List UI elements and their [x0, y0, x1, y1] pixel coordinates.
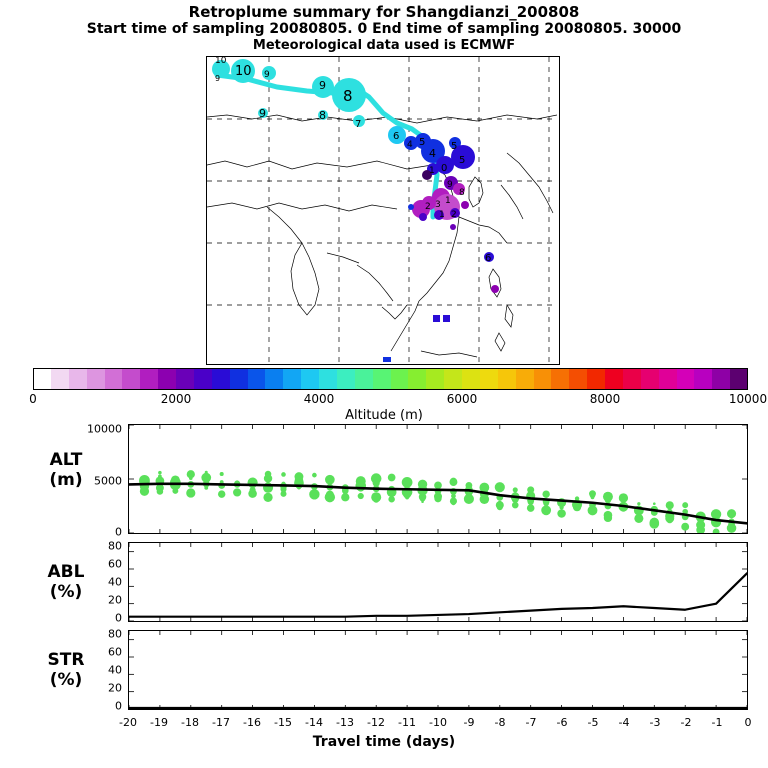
svg-text:9: 9: [259, 107, 266, 120]
colorbar-segment: [426, 368, 444, 390]
svg-text:0: 0: [441, 163, 447, 174]
alt-ytick-column: 10000 5000 0: [82, 424, 126, 534]
x-tick-label: -14: [305, 716, 323, 729]
colorbar-segment: [516, 368, 534, 390]
x-axis-tick-labels: -20-19-18-17-16-15-14-13-12-11-10-9-8-7-…: [0, 716, 768, 732]
x-tick-label: -17: [212, 716, 230, 729]
colorbar-segment: [498, 368, 516, 390]
x-tick-label: -6: [557, 716, 568, 729]
colorbar-segment: [534, 368, 552, 390]
alt-panel: [128, 424, 748, 534]
abl-panel: [128, 542, 748, 622]
colorbar-title: Altitude (m): [0, 408, 768, 423]
str-plot-svg: [129, 631, 747, 709]
colorbar-segment: [587, 368, 605, 390]
colorbar-segment: [230, 368, 248, 390]
colorbar-segment: [391, 368, 409, 390]
colorbar-segment: [462, 368, 480, 390]
svg-text:5: 5: [459, 155, 465, 166]
colorbar-segment: [677, 368, 695, 390]
svg-text:4: 4: [429, 147, 436, 160]
x-tick-label: -8: [495, 716, 506, 729]
svg-text:9: 9: [319, 79, 326, 92]
x-tick-label: 0: [745, 716, 752, 729]
svg-text:1: 1: [429, 166, 435, 176]
colorbar-segment: [730, 368, 748, 390]
map-svg: 10 10 9 9 9 8 9 8 7 6 4 5 4 5 1 0 5 2 3 …: [207, 57, 557, 362]
colorbar-tick: 8000: [590, 392, 621, 406]
svg-text:1: 1: [445, 196, 451, 206]
svg-text:3: 3: [435, 200, 441, 210]
page-title: Retroplume summary for Shangdianzi_20080…: [0, 4, 768, 21]
svg-text:6: 6: [393, 131, 399, 142]
x-tick-label: -15: [274, 716, 292, 729]
x-tick-label: -7: [526, 716, 537, 729]
x-tick-label: -19: [150, 716, 168, 729]
svg-text:9: 9: [447, 180, 453, 190]
x-tick-label: -4: [619, 716, 630, 729]
colorbar-segment: [641, 368, 659, 390]
colorbar-segment: [283, 368, 301, 390]
svg-text:8: 8: [459, 188, 465, 198]
colorbar-segment: [248, 368, 266, 390]
timeseries-panels: ALT(m) 10000 5000 0 ABL(%) 80 60 40 20 0…: [0, 424, 768, 734]
svg-text:5: 5: [419, 137, 425, 148]
colorbar-segment: [158, 368, 176, 390]
svg-text:1: 1: [439, 210, 445, 220]
colorbar-tick-labels: 0200040006000800010000: [0, 392, 768, 406]
abl-ytick-column: 80 60 40 20 0: [82, 542, 126, 622]
colorbar-tick: 10000: [729, 392, 767, 406]
colorbar-tick: 0: [29, 392, 37, 406]
svg-text:8: 8: [319, 109, 326, 122]
alt-plot-svg: [129, 425, 747, 533]
colorbar-segment: [337, 368, 355, 390]
x-tick-label: -2: [681, 716, 692, 729]
x-tick-label: -5: [588, 716, 599, 729]
x-tick-label: -10: [429, 716, 447, 729]
colorbar-segment: [87, 368, 105, 390]
colorbar-segment: [301, 368, 319, 390]
colorbar-segment: [51, 368, 69, 390]
colorbar-segment: [444, 368, 462, 390]
colorbar-segment: [712, 368, 730, 390]
colorbar-segment: [551, 368, 569, 390]
colorbar-segment: [69, 368, 87, 390]
x-tick-label: -1: [712, 716, 723, 729]
colorbar-segment: [408, 368, 426, 390]
colorbar-segment: [33, 368, 51, 390]
x-tick-label: -18: [181, 716, 199, 729]
colorbar-tick: 4000: [304, 392, 335, 406]
svg-text:6: 6: [485, 253, 491, 264]
abl-plot-svg: [129, 543, 747, 621]
str-ytick-column: 80 60 40 20 0: [82, 630, 126, 710]
svg-text:9: 9: [264, 70, 270, 80]
svg-text:2: 2: [451, 210, 457, 220]
svg-text:7: 7: [355, 119, 361, 130]
met-data-note: Meteorological data used is ECMWF: [0, 38, 768, 54]
x-tick-label: -20: [119, 716, 137, 729]
retroplume-map: 10 10 9 9 9 8 9 8 7 6 4 5 4 5 1 0 5 2 3 …: [206, 56, 560, 365]
svg-text:10: 10: [235, 64, 252, 79]
svg-text:8: 8: [343, 87, 353, 105]
altitude-colorbar: [33, 368, 748, 390]
colorbar-segment: [569, 368, 587, 390]
chart-header: Retroplume summary for Shangdianzi_20080…: [0, 0, 768, 54]
x-tick-label: -13: [336, 716, 354, 729]
x-tick-label: -16: [243, 716, 261, 729]
x-tick-label: -12: [367, 716, 385, 729]
colorbar-segment: [659, 368, 677, 390]
colorbar-tick: 6000: [447, 392, 478, 406]
colorbar-segment: [176, 368, 194, 390]
colorbar-segment: [355, 368, 373, 390]
sampling-times: Start time of sampling 20080805. 0 End t…: [0, 21, 768, 38]
colorbar-segment: [265, 368, 283, 390]
colorbar-segment: [373, 368, 391, 390]
colorbar-segment: [319, 368, 337, 390]
colorbar-segment: [105, 368, 123, 390]
svg-text:10: 10: [215, 57, 227, 66]
x-tick-label: -9: [464, 716, 475, 729]
svg-text:2: 2: [425, 202, 431, 212]
svg-text:5: 5: [451, 141, 457, 152]
str-panel: [128, 630, 748, 710]
colorbar-segment: [194, 368, 212, 390]
x-tick-label: -11: [398, 716, 416, 729]
colorbar-segment: [140, 368, 158, 390]
colorbar-segment: [623, 368, 641, 390]
colorbar-tick: 2000: [161, 392, 192, 406]
x-tick-label: -3: [650, 716, 661, 729]
colorbar-segment: [122, 368, 140, 390]
svg-text:9: 9: [215, 74, 220, 83]
colorbar-segment: [694, 368, 712, 390]
colorbar-segment: [480, 368, 498, 390]
x-axis-title: Travel time (days): [0, 734, 768, 750]
colorbar-segment: [605, 368, 623, 390]
colorbar-segment: [212, 368, 230, 390]
svg-text:4: 4: [407, 140, 413, 150]
